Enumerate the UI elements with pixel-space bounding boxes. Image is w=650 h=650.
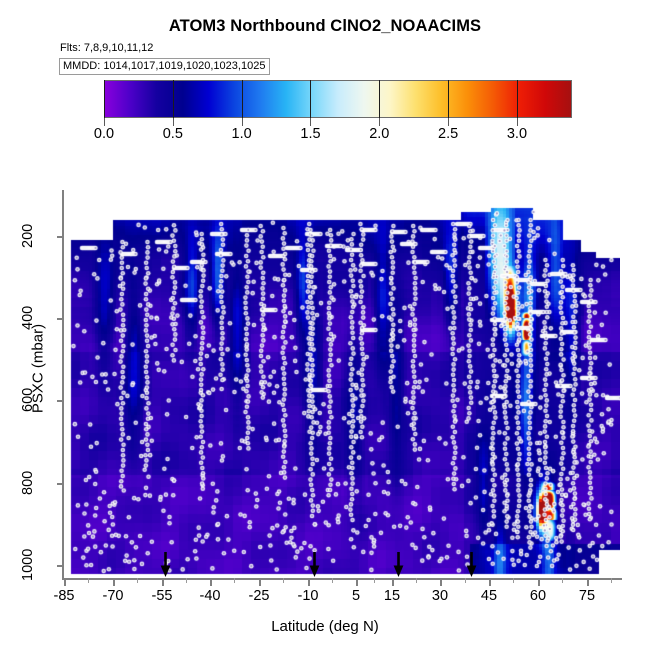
colorbar-divider <box>517 80 518 118</box>
x-axis-minor-tick <box>374 578 375 583</box>
colorbar-tick-label: 2.0 <box>369 126 389 142</box>
colorbar-divider <box>379 80 380 118</box>
x-axis-tick <box>259 578 261 586</box>
colorbar-divider <box>310 80 311 118</box>
x-axis-minor-tick <box>416 578 417 583</box>
x-axis-tick-label: 60 <box>530 588 546 604</box>
x-axis-tick-label: 5 <box>352 588 360 604</box>
x-axis-minor-tick <box>234 578 235 583</box>
x-axis-tick-label: 45 <box>481 588 497 604</box>
plot-axes-frame: 2004006008001000 -85-70-55-40-25-1051530… <box>62 190 622 580</box>
y-axis-tick <box>57 318 64 320</box>
flight-direction-arrow <box>160 552 171 578</box>
colorbar-tickmark <box>517 118 518 126</box>
x-axis-tick-label: -70 <box>103 588 124 604</box>
y-axis-title: PSXC (mbar) <box>30 269 47 469</box>
x-axis-tick-label: -25 <box>249 588 270 604</box>
x-axis-tick-label: -55 <box>152 588 173 604</box>
flights-annotation: Flts: 7,8,9,10,11,12 <box>60 42 153 54</box>
plot-root: ATOM3 Northbound ClNO2_NOAACIMS Flts: 7,… <box>0 0 650 650</box>
colorbar-divider <box>104 80 105 118</box>
x-axis-tick <box>113 578 115 586</box>
x-axis-minor-tick <box>611 578 612 583</box>
flight-direction-arrow <box>393 552 404 578</box>
x-axis-minor-tick <box>186 578 187 583</box>
y-axis-tick-label: 200 <box>20 212 36 260</box>
x-axis-minor-tick <box>88 578 89 583</box>
y-axis-tick <box>57 483 64 485</box>
x-axis-minor-tick <box>465 578 466 583</box>
x-axis-minor-tick <box>283 578 284 583</box>
y-axis-tick-label: 1000 <box>20 541 36 589</box>
x-axis-tick-label: -10 <box>298 588 319 604</box>
colorbar-tickmark <box>379 118 380 126</box>
x-axis-tick <box>162 578 164 586</box>
x-axis-tick <box>210 578 212 586</box>
y-axis-tick <box>57 236 64 238</box>
colorbar-gradient <box>104 80 572 118</box>
x-axis-tick <box>489 578 491 586</box>
colorbar-tick-label: 2.5 <box>438 126 458 142</box>
x-axis-tick <box>440 578 442 586</box>
mmdd-annotation-box: MMDD: 1014,1017,1019,1020,1023,1025 <box>59 58 270 75</box>
x-axis-tick-label: 30 <box>432 588 448 604</box>
colorbar: 0.00.51.01.52.02.53.0 <box>104 80 572 118</box>
x-axis-tick <box>587 578 589 586</box>
colorbar-tickmark <box>173 118 174 126</box>
x-axis-tick <box>356 578 358 586</box>
x-axis-tick <box>64 578 66 586</box>
y-axis-tick <box>57 400 64 402</box>
colorbar-tickmark <box>104 118 105 126</box>
colorbar-tick-label: 1.0 <box>232 126 252 142</box>
x-axis-tick <box>308 578 310 586</box>
x-axis-tick-label: -85 <box>54 588 75 604</box>
x-axis-tick-label: -40 <box>200 588 221 604</box>
x-axis-tick <box>538 578 540 586</box>
colorbar-divider <box>242 80 243 118</box>
colorbar-tickmark <box>310 118 311 126</box>
flight-direction-arrow <box>309 552 320 578</box>
page-title: ATOM3 Northbound ClNO2_NOAACIMS <box>0 17 650 36</box>
x-axis-title: Latitude (deg N) <box>0 618 650 635</box>
x-axis-tick <box>392 578 394 586</box>
x-axis-minor-tick <box>562 578 563 583</box>
colorbar-tickmark <box>242 118 243 126</box>
colorbar-divider <box>448 80 449 118</box>
colorbar-tick-label: 3.0 <box>507 126 527 142</box>
colorbar-divider <box>173 80 174 118</box>
mmdd-annotation-label: MMDD: 1014,1017,1019,1020,1023,1025 <box>63 60 265 72</box>
colorbar-tick-label: 0.5 <box>163 126 183 142</box>
colorbar-tick-label: 0.0 <box>94 126 114 142</box>
x-axis-minor-tick <box>332 578 333 583</box>
x-axis-tick-label: 15 <box>384 588 400 604</box>
colorbar-tickmark <box>448 118 449 126</box>
x-axis-tick-label: 75 <box>579 588 595 604</box>
y-axis-tick <box>57 565 64 567</box>
colorbar-tick-label: 1.5 <box>300 126 320 142</box>
flight-direction-arrow <box>466 552 477 578</box>
x-axis-minor-tick <box>513 578 514 583</box>
x-axis-minor-tick <box>137 578 138 583</box>
